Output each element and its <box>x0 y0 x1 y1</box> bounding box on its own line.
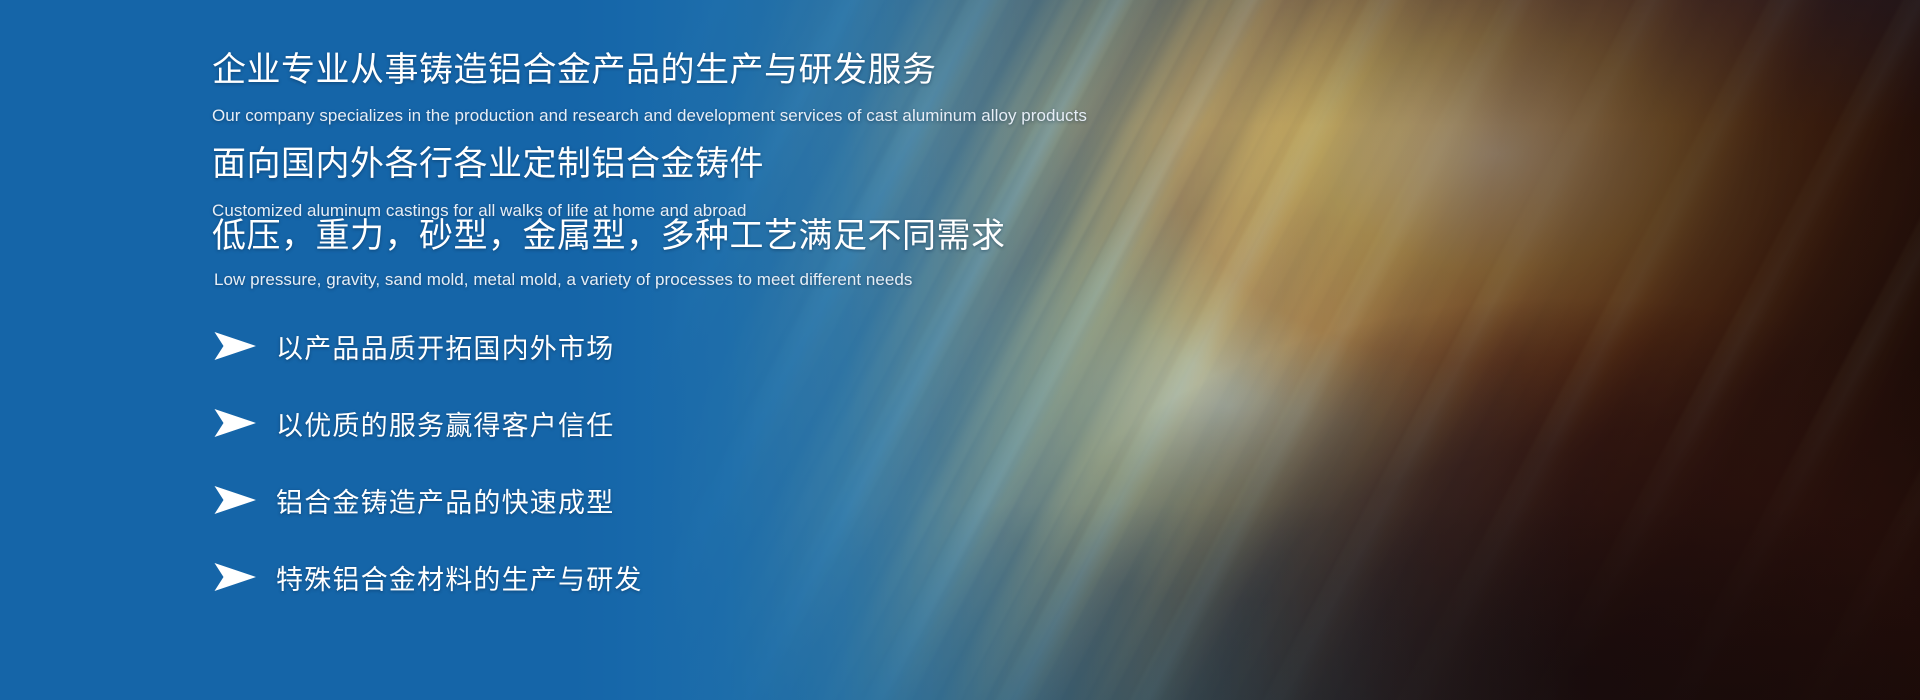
list-item-label: 以产品品质开拓国内外市场 <box>276 327 614 366</box>
hero-banner: 企业专业从事铸造铝合金产品的生产与研发服务 Our company specia… <box>0 0 1920 700</box>
arrow-right-icon <box>212 562 258 592</box>
feature-bullet-list: 以产品品质开拓国内外市场 以优质的服务赢得客户信任 铝合金铸造产品的快速成型 特… <box>212 317 972 606</box>
headline-3-cn: 低压，重力，砂型，金属型，多种工艺满足不同需求 <box>212 215 1006 258</box>
headline-2-cn: 面向国内外各行各业定制铝合金铸件 <box>212 143 764 186</box>
arrow-right-icon <box>212 485 258 515</box>
headline-1-cn: 企业专业从事铸造铝合金产品的生产与研发服务 <box>212 49 1087 92</box>
list-item: 以优质的服务赢得客户信任 <box>212 394 972 452</box>
list-item-label: 特殊铝合金材料的生产与研发 <box>276 558 643 597</box>
headline-block-2: 面向国内外各行各业定制铝合金铸件 Customized aluminum cas… <box>212 143 764 222</box>
list-item-label: 铝合金铸造产品的快速成型 <box>276 481 614 520</box>
arrow-right-icon <box>212 408 258 438</box>
headline-3-en: Low pressure, gravity, sand mold, metal … <box>214 269 1006 292</box>
headline-block-1: 企业专业从事铸造铝合金产品的生产与研发服务 Our company specia… <box>212 49 1087 127</box>
banner-content: 企业专业从事铸造铝合金产品的生产与研发服务 Our company specia… <box>212 0 1412 700</box>
headline-block-3: 低压，重力，砂型，金属型，多种工艺满足不同需求 Low pressure, gr… <box>212 215 1006 291</box>
headline-1-en: Our company specializes in the productio… <box>212 105 1087 128</box>
arrow-right-icon <box>212 331 258 361</box>
list-item-label: 以优质的服务赢得客户信任 <box>276 404 614 443</box>
list-item: 铝合金铸造产品的快速成型 <box>212 471 972 529</box>
list-item: 特殊铝合金材料的生产与研发 <box>212 548 972 606</box>
list-item: 以产品品质开拓国内外市场 <box>212 317 972 375</box>
